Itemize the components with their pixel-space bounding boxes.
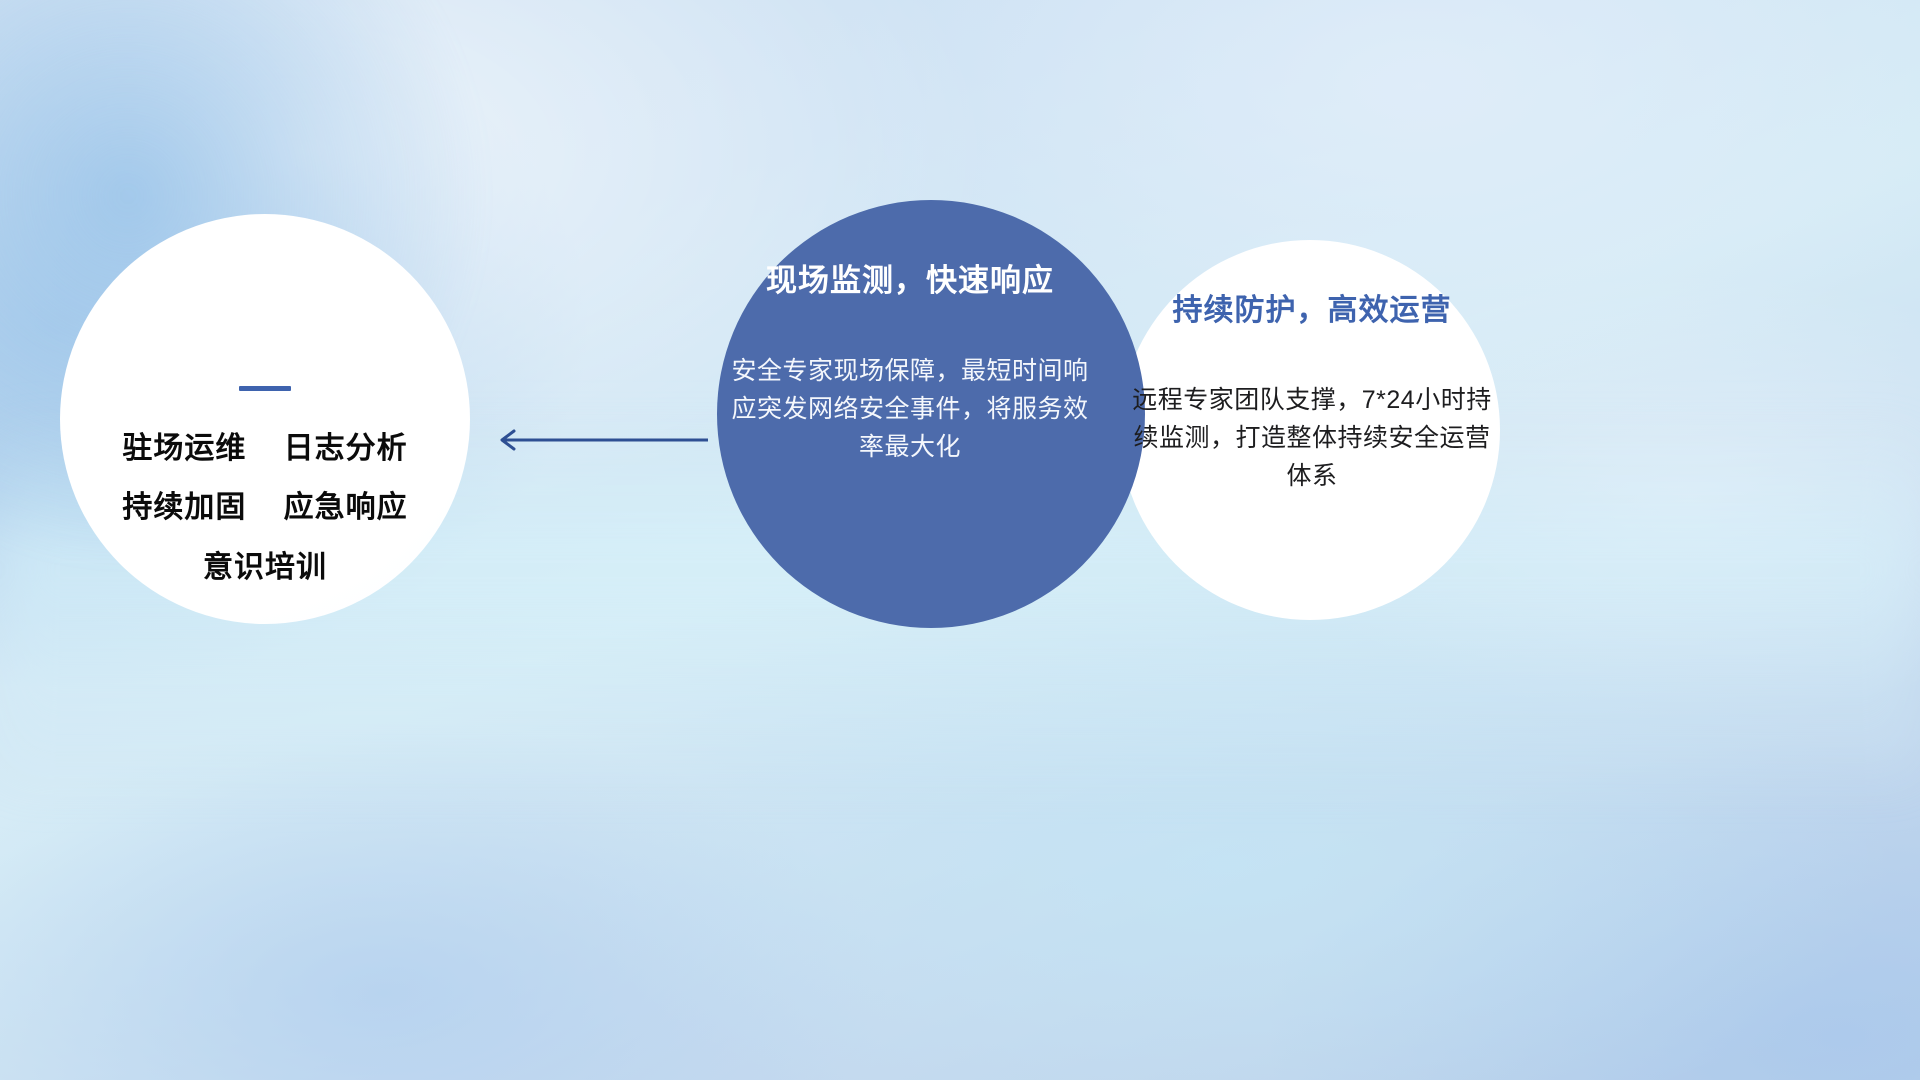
on-site-monitoring-content: 现场监测，快速响应 安全专家现场保障，最短时间响应突发网络安全事件，将服务效率最… xyxy=(730,255,1090,466)
divider-dash xyxy=(239,386,291,391)
arrow-left-icon xyxy=(490,426,710,459)
services-circle-content: 驻场运维 日志分析 持续加固 应急响应 意识培训 xyxy=(60,214,470,624)
service-line-1: 驻场运维 日志分析 xyxy=(122,431,407,466)
on-site-monitoring-body: 安全专家现场保障，最短时间响应突发网络安全事件，将服务效率最大化 xyxy=(730,352,1090,466)
service-line-2: 持续加固 应急响应 xyxy=(122,490,407,525)
continuous-protection-content: 持续防护，高效运营 远程专家团队支撑，7*24小时持续监测，打造整体持续安全运营… xyxy=(1127,285,1497,495)
on-site-monitoring-title: 现场监测，快速响应 xyxy=(730,255,1090,300)
continuous-protection-body: 远程专家团队支撑，7*24小时持续监测，打造整体持续安全运营体系 xyxy=(1127,381,1497,495)
continuous-protection-title: 持续防护，高效运营 xyxy=(1127,285,1497,329)
service-line-3: 意识培训 xyxy=(203,550,327,585)
